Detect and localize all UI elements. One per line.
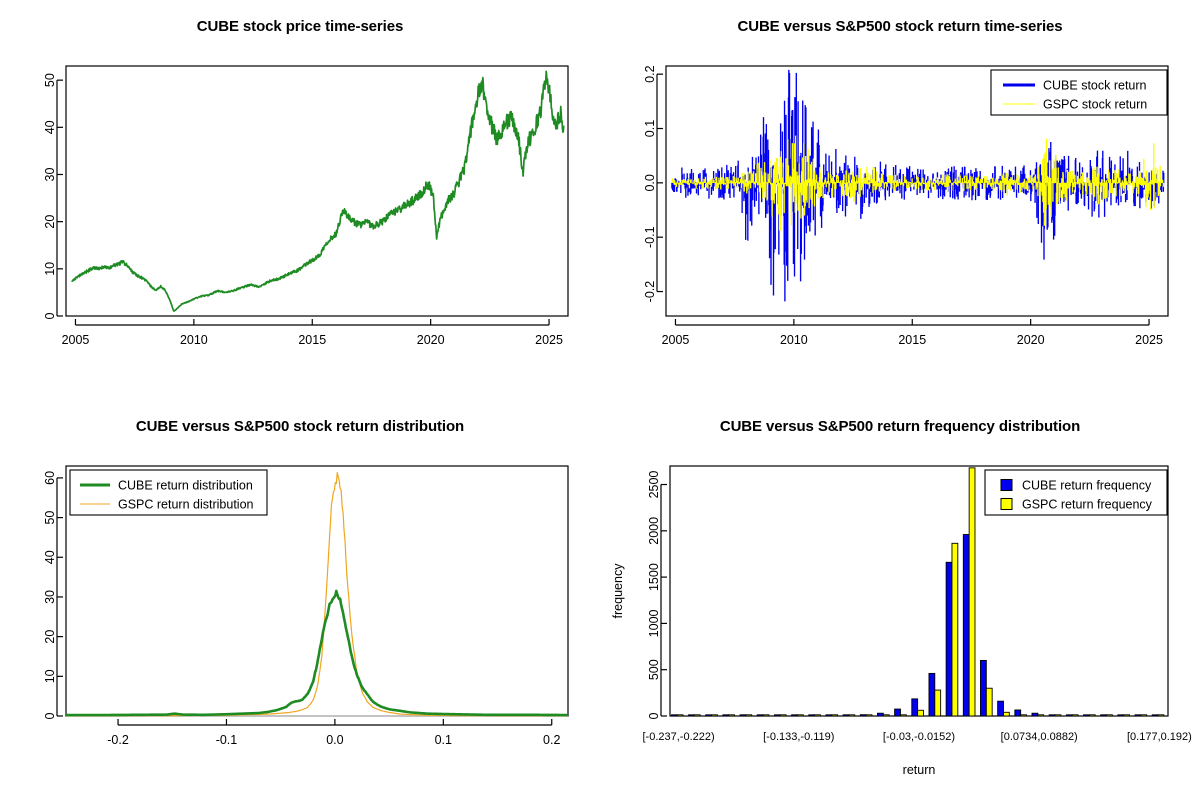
y-axis-tick-label: 20 [43,630,57,644]
histogram-bar [986,688,992,716]
y-axis-tick-label: 10 [43,669,57,683]
x-axis-bin-label: [0.0734,0.0882) [1001,731,1078,743]
x-axis-tick-label: 2015 [298,333,326,347]
y-axis-tick-label: 0.2 [643,65,657,82]
y-axis-tick-label: 40 [43,120,57,134]
histogram-bar [860,715,866,716]
y-axis-tick-label: 30 [43,167,57,181]
histogram-bar [1152,715,1158,716]
histogram-bar [1015,710,1021,716]
legend-label: GSPC return distribution [118,498,254,512]
histogram-bar [912,699,918,716]
x-axis-tick-label: 2025 [1135,333,1163,347]
x-axis-bin-label: [-0.237,-0.222) [643,731,715,743]
y-axis-tick-label: 0 [43,312,57,319]
x-axis-tick-label: 2020 [1017,333,1045,347]
legend-label: GSPC stock return [1043,98,1147,112]
histogram-bar [1021,715,1027,716]
histogram-bar [918,710,924,716]
y-axis-tick-label: 20 [43,215,57,229]
histogram-bar [671,715,677,716]
x-axis-tick-label: -0.1 [216,733,238,747]
x-axis-tick-label: 2020 [417,333,445,347]
x-axis-tick-label: 2015 [898,333,926,347]
histogram-bar [849,715,855,716]
panel-cube-price-timeseries: CUBE stock price time-series 01020304050… [0,0,600,400]
y-axis-tick-label: 10 [43,262,57,276]
plot-area-return-timeseries: -0.2-0.10.00.10.220052010201520202025CUB… [600,0,1200,400]
series-density-cube [66,591,568,715]
histogram-bar [1055,715,1061,716]
histogram-bar [1072,715,1078,716]
y-axis-tick-label: 0 [43,712,57,719]
x-axis-tick-label: 0.0 [326,733,343,747]
x-axis-tick-label: 0.1 [435,733,452,747]
legend-square-swatch [1001,499,1012,510]
histogram-bar [877,713,883,716]
histogram-bar [1141,715,1147,716]
histogram-bar [740,715,746,716]
histogram-bar [900,715,906,716]
x-axis-tick-label: 2005 [662,333,690,347]
plot-area-return-frequency: 05001000150020002500[-0.237,-0.222)[-0.1… [600,400,1200,800]
y-axis-tick-label: 50 [43,511,57,525]
legend-label: GSPC return frequency [1022,498,1153,512]
x-axis-title: return [903,763,936,777]
panel-return-frequency: CUBE versus S&P500 return frequency dist… [600,400,1200,800]
histogram-bar [1124,715,1130,716]
x-axis-tick-label: 2025 [535,333,563,347]
histogram-bar [1158,715,1164,716]
histogram-bar [1135,715,1141,716]
panel-return-timeseries: CUBE versus S&P500 stock return time-ser… [600,0,1200,400]
histogram-bar [1084,715,1090,716]
histogram-bar [980,660,986,716]
y-axis-tick-label: 2000 [647,517,661,545]
y-axis-tick-label: 0 [647,712,661,719]
histogram-bar [797,715,803,716]
histogram-bar [706,715,712,716]
histogram-bar [832,715,838,716]
histogram-bar [1003,712,1009,716]
y-axis-tick-label: -0.1 [643,226,657,248]
histogram-bar [963,535,969,716]
histogram-bar [792,715,798,716]
legend-label: CUBE return distribution [118,479,253,493]
histogram-bar [946,562,952,716]
histogram-bar [774,715,780,716]
histogram-bar [1038,715,1044,716]
histogram-bar [952,543,958,716]
histogram-bar [677,715,683,716]
x-axis-tick-label: 2005 [62,333,90,347]
histogram-bar [763,715,769,716]
histogram-bar [729,715,735,716]
y-axis-tick-label: 500 [647,659,661,680]
histogram-bar [746,715,752,716]
histogram-bar [712,715,718,716]
x-axis-bin-label: [-0.03,-0.0152) [883,731,955,743]
histogram-bar [809,715,815,716]
y-axis-tick-label: 40 [43,550,57,564]
histogram-bar [1049,715,1055,716]
y-axis-tick-label: 2500 [647,471,661,499]
histogram-bar [723,715,729,716]
x-axis-tick-label: 2010 [180,333,208,347]
x-axis-tick-label: -0.2 [107,733,129,747]
histogram-bar [998,701,1004,716]
legend-label: CUBE stock return [1043,79,1147,93]
y-axis-tick-label: 0.1 [643,120,657,137]
histogram-bar [815,715,821,716]
y-axis-tick-label: 60 [43,471,57,485]
y-axis-tick-label: 1500 [647,563,661,591]
histogram-bar [866,715,872,716]
histogram-bar [780,715,786,716]
x-axis-bin-label: [0.177,0.192) [1127,731,1192,743]
plot-area-return-distribution: 0102030405060-0.2-0.10.00.10.2CUBE retur… [0,400,600,800]
histogram-bar [1101,715,1107,716]
legend-label: CUBE return frequency [1022,479,1152,493]
y-axis-tick-label: 50 [43,73,57,87]
figure-canvas: CUBE stock price time-series 01020304050… [0,0,1200,800]
histogram-bar [1032,713,1038,716]
plot-area-price: 0102030405020052010201520202025 [0,0,600,400]
histogram-bar [1089,715,1095,716]
x-axis-tick-label: 2010 [780,333,808,347]
x-axis-tick-label: 0.2 [543,733,560,747]
histogram-bar [883,715,889,716]
y-axis-tick-label: 0.0 [643,174,657,191]
histogram-bar [757,715,763,716]
histogram-bar [689,715,695,716]
y-axis-tick-label: -0.2 [643,281,657,303]
histogram-bar [843,715,849,716]
legend-square-swatch [1001,480,1012,491]
histogram-bar [929,673,935,716]
histogram-bar [935,690,941,716]
histogram-bar [694,715,700,716]
y-axis-tick-label: 30 [43,590,57,604]
y-axis-title: frequency [611,563,625,619]
histogram-bar [1066,715,1072,716]
histogram-bar [1107,715,1113,716]
histogram-bar [969,468,975,716]
y-axis-tick-label: 1000 [647,609,661,637]
x-axis-bin-label: [-0.133,-0.119) [763,731,834,743]
series-line-cube-price [72,71,564,311]
histogram-bar [1118,715,1124,716]
panel-return-distribution: CUBE versus S&P500 stock return distribu… [0,400,600,800]
histogram-bar [826,715,832,716]
histogram-bar [895,709,901,716]
